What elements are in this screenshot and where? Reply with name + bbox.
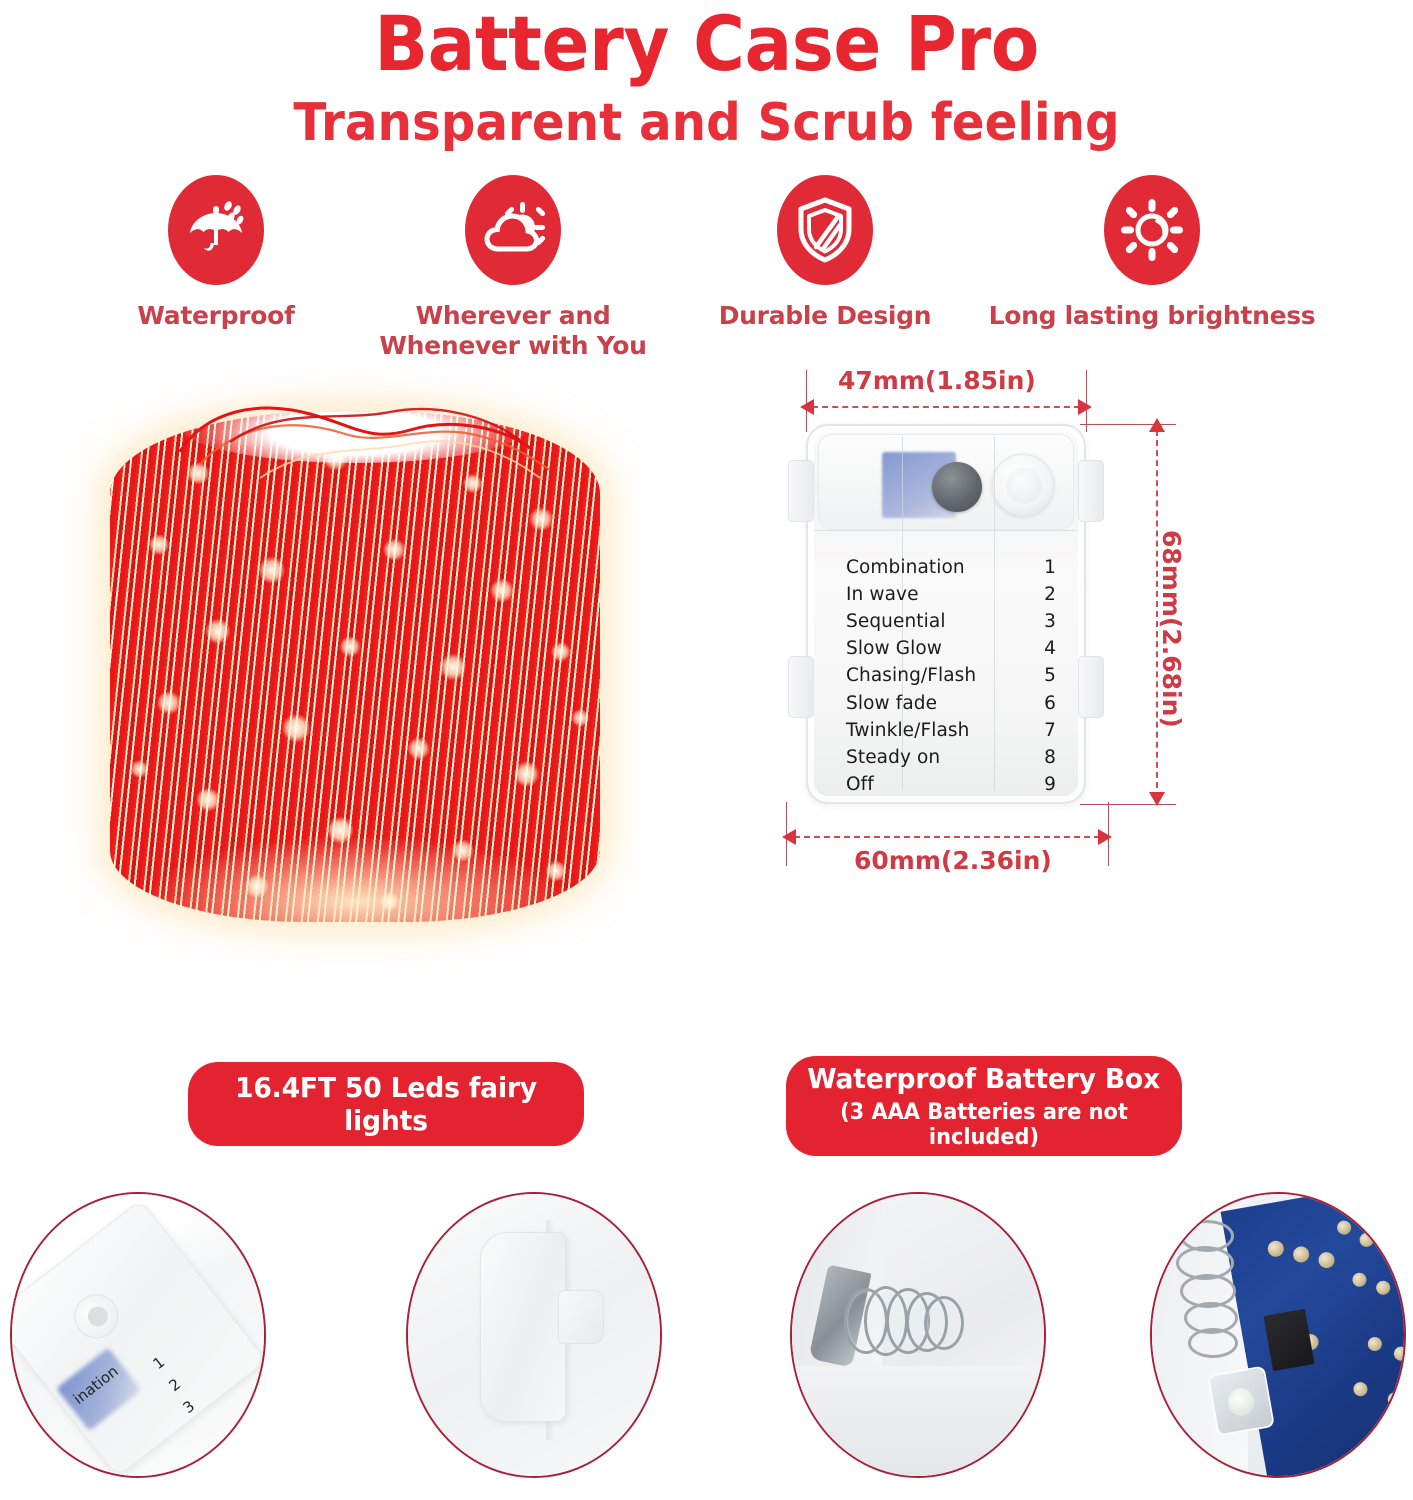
mode-row: Off 9 <box>846 771 1056 798</box>
mode-row: In wave 2 <box>846 581 1056 608</box>
mode-list: Combination 1 In wave 2 Sequential 3 Slo… <box>846 554 1056 799</box>
coil-caption-pill: 16.4FT 50 Leds fairy lights <box>188 1062 584 1146</box>
feature-label: Waterproof <box>96 301 336 332</box>
power-button <box>66 1285 128 1347</box>
power-button[interactable] <box>992 454 1054 516</box>
mode-number: 3 <box>1044 608 1056 635</box>
photo-backdrop <box>1152 1194 1404 1476</box>
mode-row: Slow Glow 4 <box>846 635 1056 662</box>
mode-number: 2 <box>1044 581 1056 608</box>
battery-case-angled <box>10 1199 266 1478</box>
page-subtitle: Transparent and Scrub feeling <box>49 96 1363 151</box>
feature-label: Durable Design <box>690 301 960 332</box>
dim-arrow-left-2 <box>782 829 796 845</box>
product-showcase: 47mm(1.85in) 68mm(2.68in) 60mm(2.36in) <box>0 362 1413 1062</box>
dimension-width-label: 47mm(1.85in) <box>838 366 1036 395</box>
spring-coil <box>1174 1220 1254 1370</box>
mode-number: 6 <box>1044 690 1056 717</box>
caption-text: Waterproof Battery Box <box>808 1062 1161 1095</box>
mode-row: Twinkle/Flash 7 <box>846 717 1056 744</box>
caption-row: 16.4FT 50 Leds fairy lights Waterproof B… <box>0 1062 1413 1192</box>
battery-box-caption-pill: Waterproof Battery Box (3 AAA Batteries … <box>786 1056 1182 1156</box>
battery-box-diagram: 47mm(1.85in) 68mm(2.68in) 60mm(2.36in) <box>760 362 1230 922</box>
mode-number: 5 <box>1044 662 1056 689</box>
photo-backdrop <box>792 1194 1044 1476</box>
feature-long-lasting-brightness: Long lasting brightness <box>987 175 1317 332</box>
header: Battery Case Pro Transparent and Scrub f… <box>0 0 1413 151</box>
dim-arrow-right-2 <box>1098 829 1112 845</box>
dim-line-depth <box>794 836 1100 838</box>
battery-box: Combination 1 In wave 2 Sequential 3 Slo… <box>806 424 1086 804</box>
cloud-sun-icon <box>465 175 561 285</box>
mode-row: Slow fade 6 <box>846 690 1056 717</box>
mode-name: In wave <box>846 581 919 608</box>
mode-row: Combination 1 <box>846 554 1056 581</box>
feature-label: Wherever and Whenever with You <box>363 301 663 362</box>
mode-name: Twinkle/Flash <box>846 717 969 744</box>
dim-arrow-down <box>1149 792 1165 806</box>
feature-label: Long lasting brightness <box>987 301 1317 332</box>
sun-icon <box>1104 175 1200 285</box>
case-seam <box>814 530 1078 531</box>
mode-name: Combination <box>846 554 965 581</box>
dimension-height-label: 68mm(2.68in) <box>1157 530 1186 728</box>
detail-photo-row: ination 1 2 3 <box>0 1192 1413 1492</box>
dim-arrow-up <box>1149 418 1165 432</box>
mode-name: Steady on <box>846 744 940 771</box>
feature-waterproof: Waterproof <box>96 175 336 332</box>
led-indicator <box>1207 1365 1275 1436</box>
caption-text: 16.4FT 50 Leds fairy lights <box>198 1071 574 1137</box>
mode-name: Sequential <box>846 608 946 635</box>
fairy-lights-coil-photo <box>74 382 634 942</box>
mode-row: Sequential 3 <box>846 608 1056 635</box>
photo-backdrop: ination 1 2 3 <box>12 1194 264 1476</box>
mode-button[interactable] <box>932 462 982 512</box>
page-title: Battery Case Pro <box>49 6 1363 82</box>
spring-coil <box>844 1282 970 1362</box>
dim-arrow-left <box>800 399 814 415</box>
mode-row: Chasing/Flash 5 <box>846 662 1056 689</box>
detail-photo-circuit-board <box>1150 1192 1406 1478</box>
photo-backdrop <box>408 1194 660 1476</box>
mode-number: 1 <box>1044 554 1056 581</box>
clip-latch <box>480 1232 566 1422</box>
shield-icon <box>777 175 873 285</box>
feature-anywhere-anytime: Wherever and Whenever with You <box>363 175 663 362</box>
mode-row: Steady on 8 <box>846 744 1056 771</box>
detail-photo-spring-contact <box>790 1192 1046 1478</box>
feature-durable-design: Durable Design <box>690 175 960 332</box>
mode-number: 9 <box>1044 771 1056 798</box>
mode-number: 8 <box>1044 744 1056 771</box>
latch-right-top <box>1078 460 1104 522</box>
detail-photo-battery-case: ination 1 2 3 <box>10 1192 266 1478</box>
dimension-depth-label: 60mm(2.36in) <box>854 846 1052 875</box>
dim-line-width <box>812 406 1080 408</box>
mode-name: Chasing/Flash <box>846 662 976 689</box>
dim-arrow-right <box>1078 399 1092 415</box>
detail-photo-clip-latch <box>406 1192 662 1478</box>
mode-name: Slow Glow <box>846 635 942 662</box>
latch-right-bottom <box>1078 656 1104 718</box>
battery-tray-floor <box>792 1366 1046 1476</box>
caption-subtext: (3 AAA Batteries are not included) <box>796 1100 1172 1150</box>
latch-left-top <box>788 460 814 522</box>
umbrella-rain-icon <box>168 175 264 285</box>
latch-left-bottom <box>788 656 814 718</box>
mode-name: Slow fade <box>846 690 937 717</box>
fairy-lights-coil <box>110 412 600 922</box>
mode-number: 4 <box>1044 635 1056 662</box>
clip-tab <box>558 1290 604 1344</box>
product-infographic: Battery Case Pro Transparent and Scrub f… <box>0 0 1413 1500</box>
mode-name: Off <box>846 771 874 798</box>
feature-list: Waterproof <box>0 151 1413 362</box>
mode-number: 7 <box>1044 717 1056 744</box>
